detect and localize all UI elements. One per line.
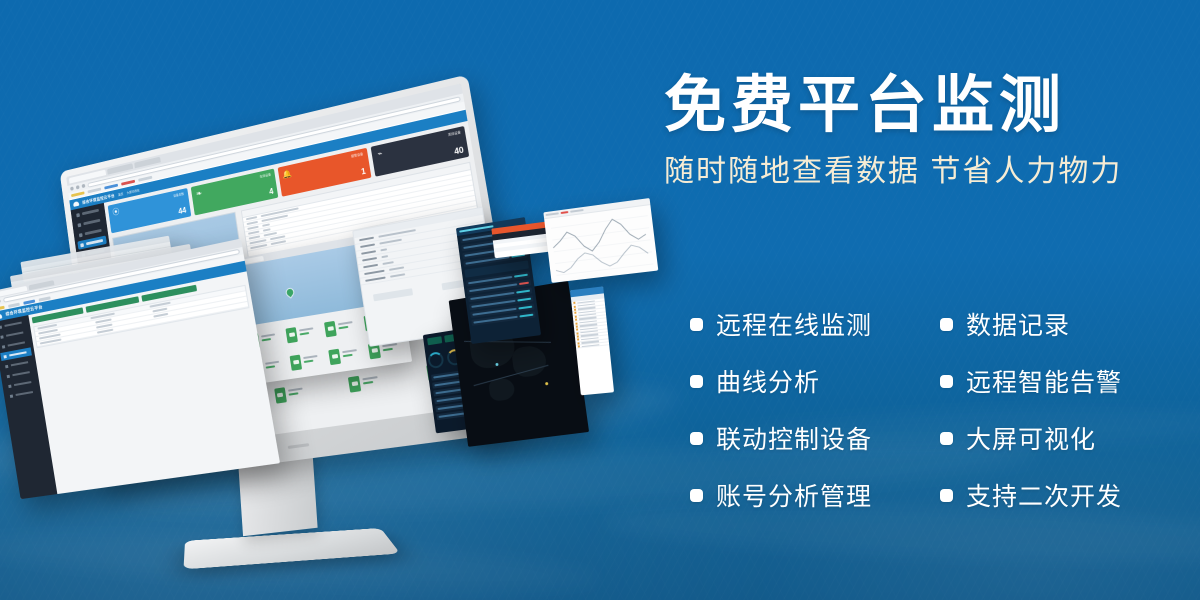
page-subtitle: 随时随地查看数据 节省人力物力 [664, 155, 1164, 188]
feature-label: 联动控制设备 [716, 420, 872, 456]
sidebar-item-label [82, 209, 99, 215]
reload-icon[interactable] [82, 184, 86, 188]
offline-icon: ⌁ [374, 147, 387, 160]
stat-card-value: 4 [269, 188, 274, 197]
alert-icon [577, 342, 579, 344]
series-temperature [551, 215, 647, 256]
sensor-caption [265, 361, 280, 371]
kpi-chip [427, 336, 442, 345]
nodes-icon: ⦿ [111, 206, 122, 218]
chart-canvas [544, 205, 658, 283]
view-detail-button[interactable] [373, 288, 413, 301]
alert-icon [574, 312, 576, 314]
promo-banner: 综合环境监控云平台 首页 大屏可视化 [0, 0, 1200, 600]
sidebar-item-label [83, 219, 100, 225]
square-bullet-icon [940, 318, 953, 331]
dark-window-title [459, 225, 494, 233]
sensor-caption [288, 388, 304, 398]
alert-icon [577, 339, 579, 341]
feature-label: 账号分析管理 [716, 477, 872, 513]
leaf-icon: ❧ [193, 187, 204, 200]
alert-icon [575, 322, 577, 324]
stat-card-label: 报警设备 [351, 152, 364, 159]
alert-icon [576, 329, 578, 331]
chart-legend-item [570, 209, 584, 213]
square-bullet-icon [940, 432, 953, 445]
square-bullet-icon [940, 489, 953, 502]
detail-value [382, 261, 393, 265]
sensor-caption [342, 349, 358, 359]
alert-icon [577, 336, 579, 338]
alert-icon [576, 325, 578, 327]
sidebar-item-label [86, 239, 103, 245]
series-humidity [554, 243, 649, 273]
feature-label: 大屏可视化 [966, 420, 1096, 456]
pulse-icon [80, 243, 84, 247]
donut-chart-online-rate [427, 351, 444, 369]
feature-item-curve-analysis: 曲线分析 [690, 363, 940, 399]
feature-label: 远程在线监测 [716, 306, 872, 342]
bell-icon: 🔔 [281, 168, 293, 181]
sensor-icon [348, 375, 361, 392]
detail-key [361, 250, 376, 255]
sensor-cell[interactable] [323, 312, 362, 342]
line-chart-svg [544, 205, 658, 283]
feature-label: 远程智能告警 [966, 363, 1122, 399]
monitor-base [183, 528, 400, 569]
feature-item-big-screen: 大屏可视化 [940, 420, 1160, 456]
chart-legend-item [561, 211, 569, 214]
feature-item-linkage-control: 联动控制设备 [690, 420, 940, 456]
sensor-cell[interactable] [285, 318, 323, 347]
cloud-icon [73, 201, 79, 207]
stat-card-label: 设备总数 [173, 192, 184, 198]
alert-icon [574, 309, 576, 311]
sensor-caption [299, 327, 314, 337]
detail-key [359, 237, 374, 242]
grid-icon [79, 233, 83, 237]
cloud-icon [0, 313, 2, 319]
home-icon [76, 213, 80, 217]
map-node [545, 382, 548, 385]
feature-list: 远程在线监测 数据记录 曲线分析 远程智能告警 联动控制设备 大屏可视化 账号分… [690, 306, 1160, 513]
sensor-icon [328, 348, 341, 364]
sensor-caption [363, 376, 379, 386]
detail-value [390, 273, 405, 278]
location-pin-icon [285, 288, 294, 298]
detail-key [365, 276, 386, 282]
feature-label: 数据记录 [966, 306, 1070, 342]
square-bullet-icon [940, 375, 953, 388]
hero-copy: 免费平台监测 随时随地查看数据 节省人力物力 [664, 74, 1164, 188]
detail-value [381, 255, 388, 258]
reload-icon[interactable] [0, 299, 1, 303]
square-bullet-icon [690, 432, 703, 445]
feature-label: 曲线分析 [716, 363, 820, 399]
detail-key [363, 264, 378, 269]
feature-item-data-record: 数据记录 [940, 306, 1160, 342]
chart-legend-item [545, 212, 558, 216]
sensor-caption [261, 333, 276, 343]
sensor-cell[interactable] [327, 340, 366, 369]
square-bullet-icon [690, 318, 703, 331]
sensor-caption [303, 355, 318, 365]
stat-card-value: 1 [361, 168, 367, 177]
alert-icon [575, 315, 577, 317]
chart-icon [77, 223, 81, 227]
sensor-icon [285, 327, 297, 343]
sensor-caption [338, 321, 354, 331]
sensor-icon [324, 320, 337, 337]
alert-icon [578, 346, 580, 348]
alert-icon [575, 319, 577, 321]
feature-item-secondary-development: 支持二次开发 [940, 477, 1160, 513]
detail-value [389, 266, 404, 271]
stat-card-value: 40 [454, 146, 465, 156]
feature-label: 支持二次开发 [966, 477, 1122, 513]
app-menu-home[interactable]: 首页 [118, 191, 124, 196]
app-menu-bigscreen[interactable]: 大屏可视化 [126, 188, 139, 195]
square-bullet-icon [690, 375, 703, 388]
detail-key [362, 257, 377, 262]
detail-key [360, 243, 375, 248]
sensor-icon [290, 354, 303, 370]
sensor-cell[interactable] [289, 346, 327, 375]
feature-item-account-management: 账号分析管理 [690, 477, 940, 513]
stat-card-label: 在线设备 [259, 172, 271, 178]
feature-item-smart-alarm: 远程智能告警 [940, 363, 1160, 399]
stat-card-value: 44 [178, 207, 187, 216]
floating-window-history-chart[interactable] [543, 198, 658, 283]
alert-icon [576, 332, 578, 334]
detail-value [380, 248, 387, 251]
alert-icon [573, 302, 575, 304]
sidebar-item-label [85, 229, 102, 235]
feature-item-remote-monitoring: 远程在线监测 [690, 306, 940, 342]
square-bullet-icon [690, 489, 703, 502]
sensor-icon [274, 387, 287, 404]
alert-icon [574, 305, 576, 307]
back-icon[interactable] [70, 186, 74, 190]
page-title: 免费平台监测 [664, 74, 1164, 137]
brand-logo [288, 443, 310, 449]
forward-icon[interactable] [76, 185, 80, 189]
stat-card-label: 离线设备 [448, 130, 461, 137]
